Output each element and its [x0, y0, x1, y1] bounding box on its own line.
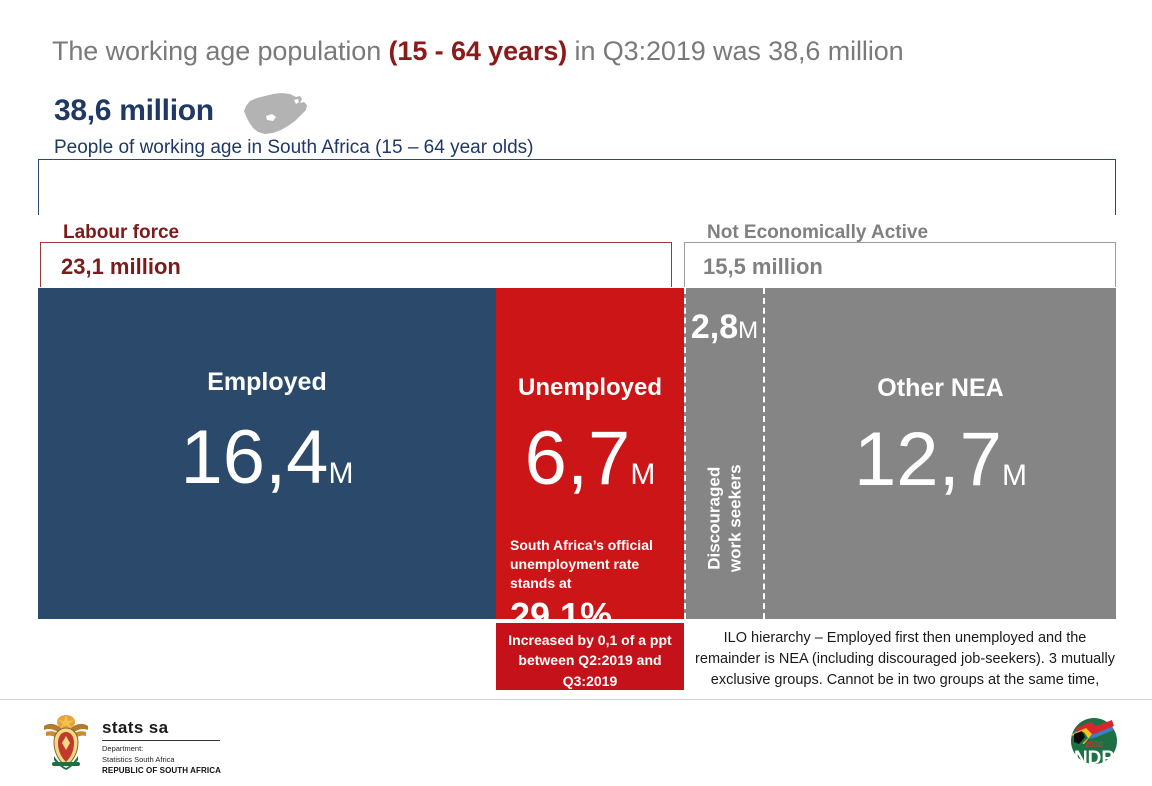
segment-value-unemployed: 6,7M — [496, 421, 684, 497]
title-part2: in Q3:2019 was 38,6 million — [567, 36, 903, 66]
employed-unit: M — [328, 457, 353, 490]
bar-segment-unemployed[interactable]: Unemployed 6,7M South Africa’s official … — [496, 288, 684, 619]
statssa-name: stats sa — [102, 718, 221, 738]
ndp-logo-icon: 2030 NDP — [1058, 714, 1130, 772]
segment-label-employed: Employed — [38, 368, 496, 397]
bracket-labour-force — [40, 242, 672, 287]
ilo-hierarchy-note: ILO hierarchy – Employed first then unem… — [694, 628, 1116, 691]
segment-label-unemployed: Unemployed — [496, 374, 684, 402]
statssa-department: Department: — [102, 744, 221, 755]
segment-label-other-nea: Other NEA — [765, 374, 1116, 403]
bar-segment-employed[interactable]: Employed 16,4M — [38, 288, 496, 619]
statssa-republic: REPUBLIC OF SOUTH AFRICA — [102, 766, 221, 775]
statssa-logo: stats sa Department: Statistics South Af… — [40, 712, 221, 775]
employed-number: 16,4 — [181, 415, 329, 500]
other-nea-number: 12,7 — [854, 417, 1002, 502]
segment-value-discouraged: 2,8M — [686, 308, 763, 347]
segment-label-discouraged: Discouragedwork seekers — [686, 428, 763, 608]
unemployed-unit: M — [630, 458, 655, 491]
bar-segment-discouraged[interactable]: 2,8M Discouragedwork seekers — [684, 288, 765, 619]
discouraged-label-line2: work seekers — [726, 464, 745, 572]
coat-of-arms-icon — [40, 712, 92, 770]
section-label-nea: Not Economically Active — [707, 222, 928, 244]
headline-value: 38,6 million — [54, 94, 214, 128]
unemployed-number: 6,7 — [525, 416, 631, 501]
discouraged-unit: M — [738, 317, 758, 344]
discouraged-number: 2,8 — [691, 308, 738, 346]
segment-value-employed: 16,4M — [38, 420, 496, 496]
title-accent: (15 - 64 years) — [389, 36, 568, 66]
statssa-rule — [102, 740, 220, 741]
ndp-label: NDP — [1074, 748, 1114, 769]
footer-divider — [0, 699, 1152, 700]
bracket-working-age — [38, 159, 1116, 215]
statssa-department-line2: Statistics South Africa — [102, 755, 221, 766]
slide: The working age population (15 - 64 year… — [0, 0, 1152, 786]
bar-segment-other-nea[interactable]: Other NEA 12,7M — [765, 288, 1116, 619]
unemployment-rate-note: South Africa’s official unemployment rat… — [510, 536, 670, 593]
section-label-labour-force: Labour force — [63, 222, 179, 244]
south-africa-map-icon — [238, 90, 312, 138]
unemployment-change-callout: Increased by 0,1 of a ppt between Q2:201… — [496, 623, 684, 690]
page-title: The working age population (15 - 64 year… — [52, 36, 904, 67]
bracket-nea — [684, 242, 1116, 287]
headline-description: People of working age in South Africa (1… — [54, 137, 534, 159]
segment-value-other-nea: 12,7M — [765, 422, 1116, 498]
other-nea-unit: M — [1002, 459, 1027, 492]
title-part1: The working age population — [52, 36, 389, 66]
discouraged-label-line1: Discouraged — [704, 467, 723, 570]
